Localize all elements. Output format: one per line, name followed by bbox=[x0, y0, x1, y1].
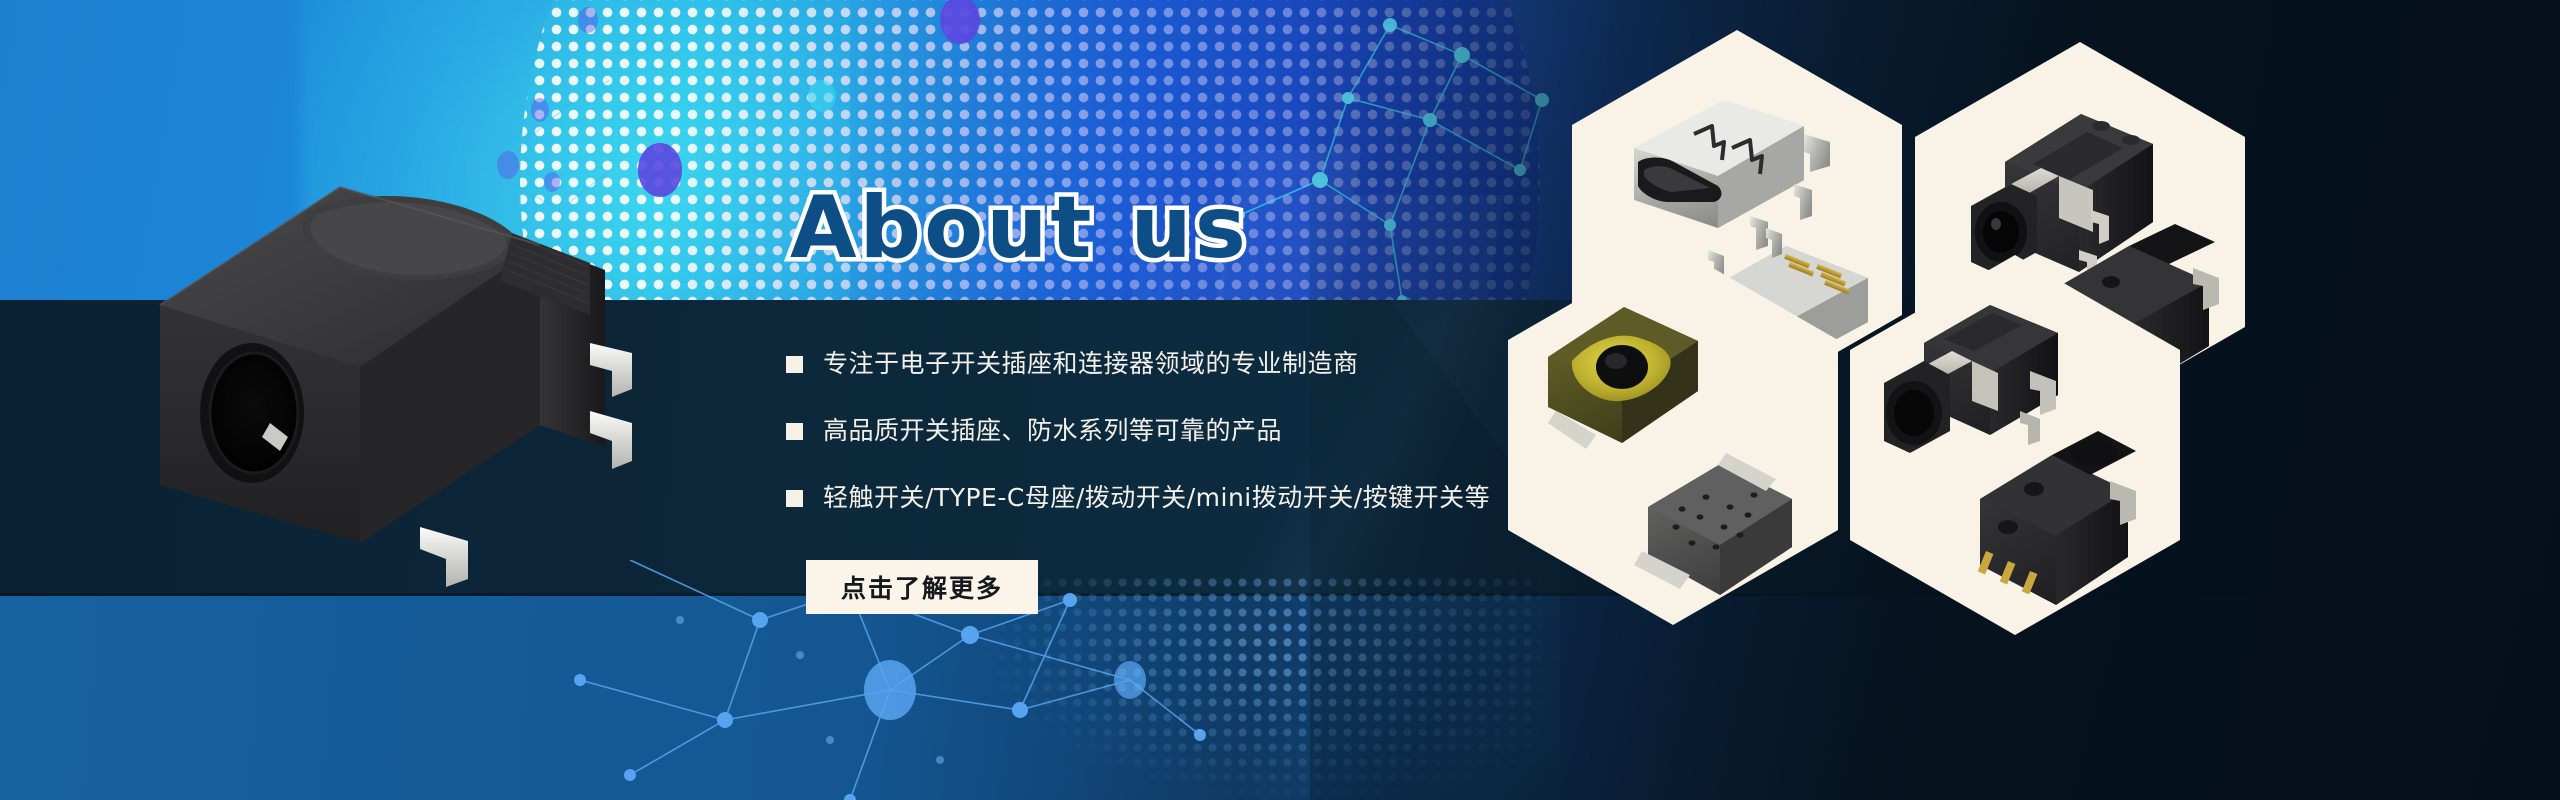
square-bullet-icon bbox=[786, 423, 803, 440]
list-item-label: 轻触开关/TYPE-C母座/拨动开关/mini拨动开关/按键开关等 bbox=[823, 483, 1490, 513]
list-item-label: 高品质开关插座、防水系列等可靠的产品 bbox=[823, 416, 1282, 446]
learn-more-button[interactable]: 点击了解更多 bbox=[806, 560, 1038, 614]
list-item-label: 专注于电子开关插座和连接器领域的专业制造商 bbox=[823, 349, 1359, 379]
title-word-us: us bbox=[1131, 178, 1249, 278]
hexagon-product-cluster bbox=[1560, 0, 2560, 800]
list-item: 高品质开关插座、防水系列等可靠的产品 bbox=[786, 405, 1626, 457]
square-bullet-icon bbox=[786, 356, 803, 373]
page-title: Aboutus bbox=[790, 178, 1249, 278]
hero-product-dc-power-jack bbox=[120, 175, 680, 645]
about-us-banner: Aboutus 专注于电子开关插座和连接器领域的专业制造商 高品质开关插座、防水… bbox=[0, 0, 2560, 800]
square-bullet-icon bbox=[786, 490, 803, 507]
title-word-about: About bbox=[790, 178, 1095, 278]
list-item: 专注于电子开关插座和连接器领域的专业制造商 bbox=[786, 338, 1626, 390]
learn-more-button-label: 点击了解更多 bbox=[841, 569, 1003, 605]
feature-list: 专注于电子开关插座和连接器领域的专业制造商 高品质开关插座、防水系列等可靠的产品… bbox=[786, 338, 1626, 539]
list-item: 轻触开关/TYPE-C母座/拨动开关/mini拨动开关/按键开关等 bbox=[786, 472, 1626, 524]
